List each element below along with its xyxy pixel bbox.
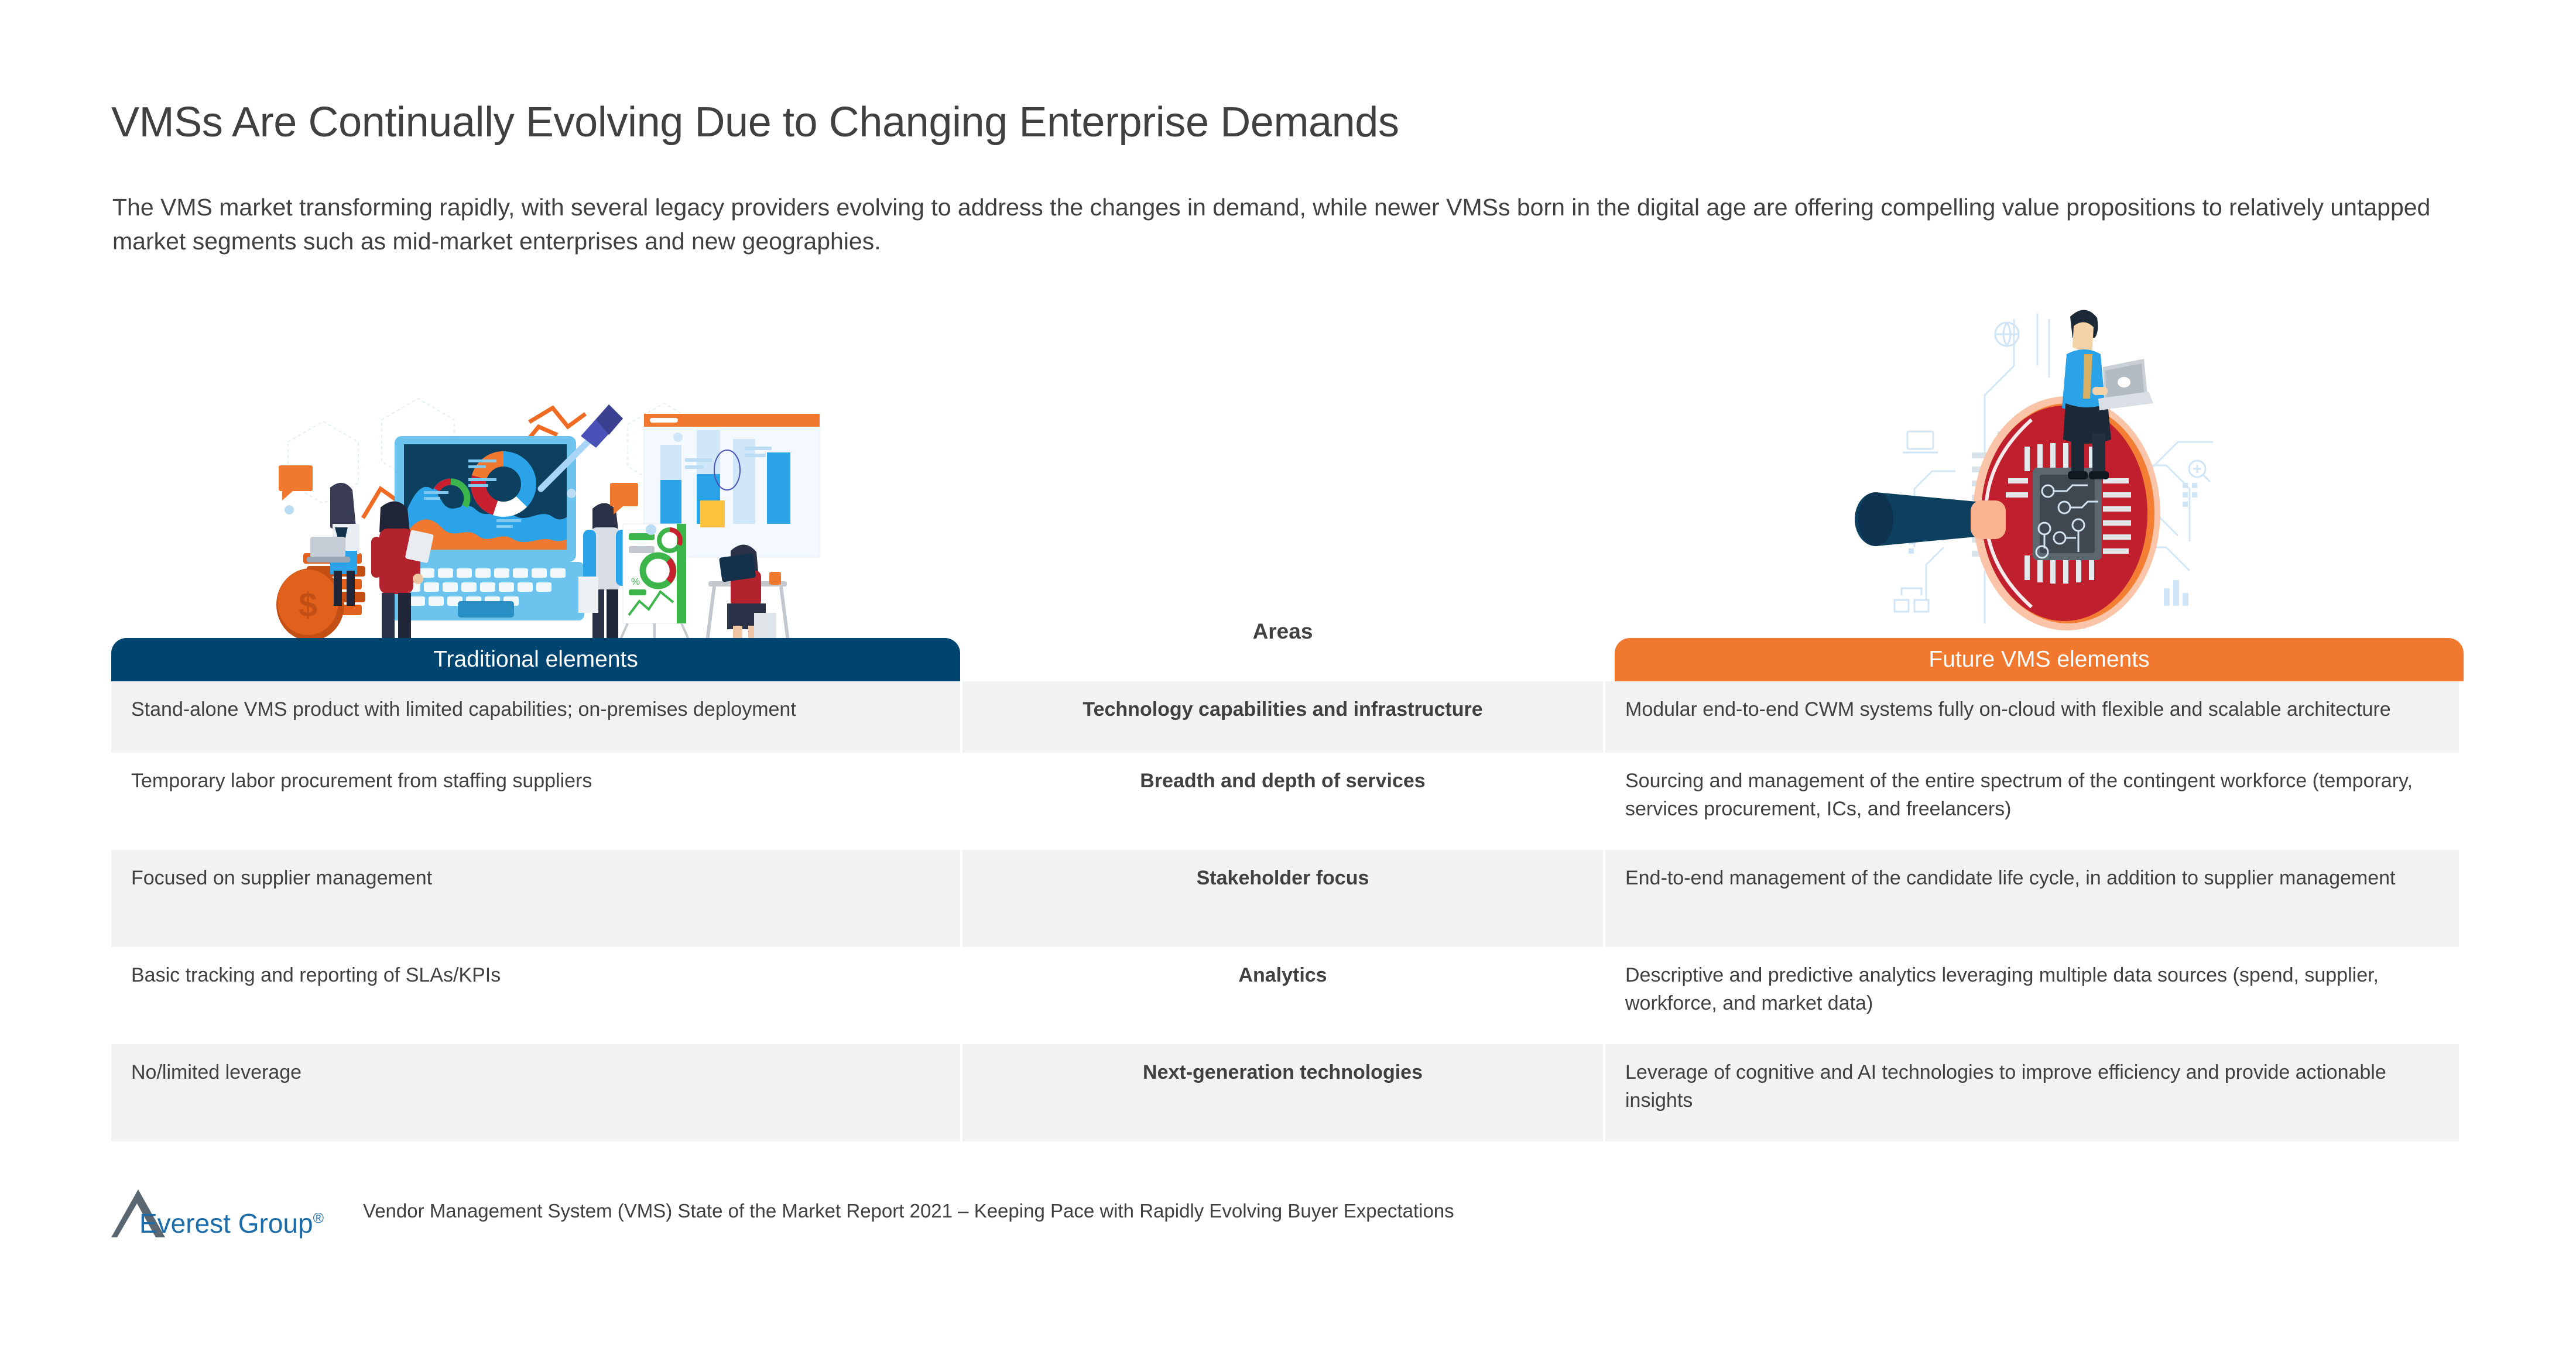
table-row: No/limited leverage Next-generation tech…: [0, 1044, 2576, 1141]
page-title: VMSs Are Continually Evolving Due to Cha…: [111, 98, 1399, 146]
area-cell: Breadth and depth of services: [962, 753, 1603, 795]
table-row: Stand-alone VMS product with limited cap…: [0, 681, 2576, 753]
traditional-cell: No/limited leverage: [111, 1044, 960, 1086]
svg-text:%: %: [631, 576, 640, 587]
areas-column-label: Areas: [962, 619, 1603, 644]
future-cell: Sourcing and management of the entire sp…: [1605, 753, 2459, 824]
future-cell: Leverage of cognitive and AI technologie…: [1605, 1044, 2459, 1115]
table-row: Basic tracking and reporting of SLAs/KPI…: [0, 947, 2576, 1044]
svg-text:$: $: [299, 586, 317, 624]
traditional-cell: Temporary labor procurement from staffin…: [111, 753, 960, 795]
comparison-table: Stand-alone VMS product with limited cap…: [0, 681, 2576, 1141]
future-vms-elements-header: Future VMS elements: [1615, 638, 2464, 681]
table-row: Temporary labor procurement from staffin…: [0, 753, 2576, 850]
future-cell: End-to-end management of the candidate l…: [1605, 850, 2459, 892]
magnifying-glass-microchip-illustration: [1838, 296, 2248, 635]
page-subtitle: The VMS market transforming rapidly, wit…: [112, 190, 2466, 258]
traditional-cell: Stand-alone VMS product with limited cap…: [111, 681, 960, 723]
traditional-cell: Basic tracking and reporting of SLAs/KPI…: [111, 947, 960, 989]
future-cell: Modular end-to-end CWM systems fully on-…: [1605, 681, 2459, 723]
business-analytics-illustration: $: [265, 383, 827, 641]
future-cell: Descriptive and predictive analytics lev…: [1605, 947, 2459, 1018]
area-cell: Technology capabilities and infrastructu…: [962, 681, 1603, 723]
traditional-cell: Focused on supplier management: [111, 850, 960, 892]
traditional-elements-header: Traditional elements: [111, 638, 960, 681]
everest-group-wordmark: Everest Group®: [139, 1208, 324, 1239]
area-cell: Analytics: [962, 947, 1603, 989]
area-cell: Stakeholder focus: [962, 850, 1603, 892]
area-cell: Next-generation technologies: [962, 1044, 1603, 1086]
table-row: Focused on supplier management Stakehold…: [0, 850, 2576, 947]
source-note: Vendor Management System (VMS) State of …: [363, 1200, 1454, 1222]
